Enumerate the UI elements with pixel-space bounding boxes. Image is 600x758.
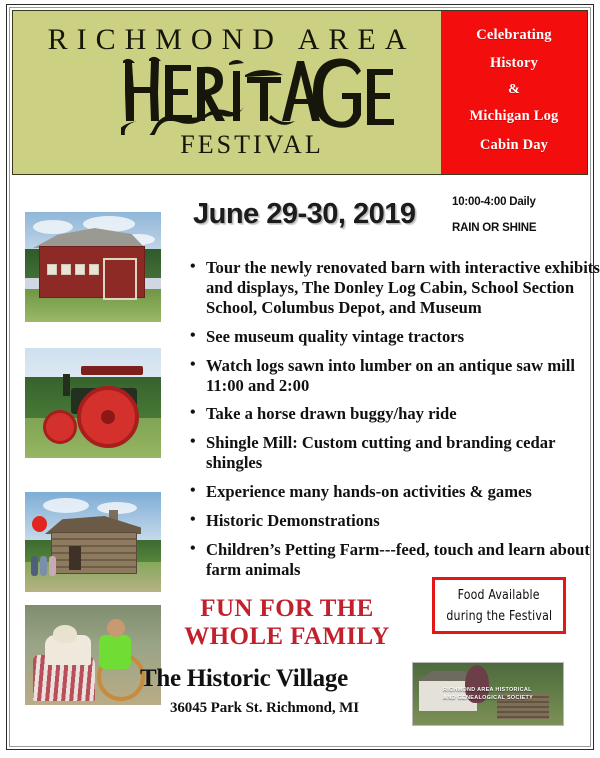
- society-logo-line-1: RICHMOND AREA HISTORICAL: [443, 687, 543, 695]
- sidebar-line-history: History: [490, 56, 538, 71]
- red-barn-photo: [25, 212, 161, 322]
- food-box-line-1: Food Available: [458, 589, 540, 602]
- activities-list: Tour the newly renovated barn with inter…: [186, 258, 600, 589]
- list-item: See museum quality vintage tractors: [206, 327, 600, 347]
- historical-society-logo: RICHMOND AREA HISTORICAL AND GENEALOGICA…: [412, 662, 564, 726]
- header-banner: RICHMOND AREA: [12, 10, 588, 175]
- celebrating-sidebar: Celebrating History & Michigan Log Cabin…: [441, 11, 587, 174]
- venue-name: The Historic Village: [140, 665, 348, 693]
- list-item: Shingle Mill: Custom cutting and brandin…: [206, 433, 600, 473]
- food-available-box: Food Available during the Festival: [432, 577, 566, 634]
- festival-flyer: RICHMOND AREA: [0, 0, 600, 758]
- event-hours: 10:00-4:00 Daily: [452, 196, 536, 208]
- society-logo-line-2: AND GENEALOGICAL SOCIETY: [443, 695, 543, 703]
- list-item: Children’s Petting Farm---feed, touch an…: [206, 540, 600, 580]
- list-item: Take a horse drawn buggy/hay ride: [206, 404, 600, 424]
- food-box-line-2: during the Festival: [446, 610, 552, 623]
- sidebar-line-ampersand: &: [508, 83, 520, 98]
- banner-title-area: RICHMOND AREA: [13, 11, 441, 174]
- rain-or-shine-note: RAIN OR SHINE: [452, 222, 536, 234]
- sidebar-line-celebrating: Celebrating: [476, 28, 552, 43]
- tagline-line-2: WHOLE FAMILY: [170, 623, 404, 650]
- list-item: Historic Demonstrations: [206, 511, 600, 531]
- vintage-tractor-photo: [25, 348, 161, 458]
- log-cabin-photo: [25, 492, 161, 592]
- banner-title: RICHMOND AREA: [13, 25, 441, 55]
- sidebar-line-michigan-log: Michigan Log: [469, 109, 558, 124]
- list-item: Watch logs sawn into lumber on an antiqu…: [206, 356, 600, 396]
- sidebar-line-cabin-day: Cabin Day: [480, 138, 548, 153]
- venue-address: 36045 Park St. Richmond, MI: [170, 700, 359, 717]
- event-date: June 29-30, 2019: [193, 198, 416, 231]
- tagline-line-1: FUN FOR THE: [170, 595, 404, 622]
- list-item: Tour the newly renovated barn with inter…: [206, 258, 600, 318]
- list-item: Experience many hands-on activities & ga…: [206, 482, 600, 502]
- heritage-wordmark-icon: [121, 55, 396, 135]
- festival-word: FESTIVAL: [13, 132, 441, 158]
